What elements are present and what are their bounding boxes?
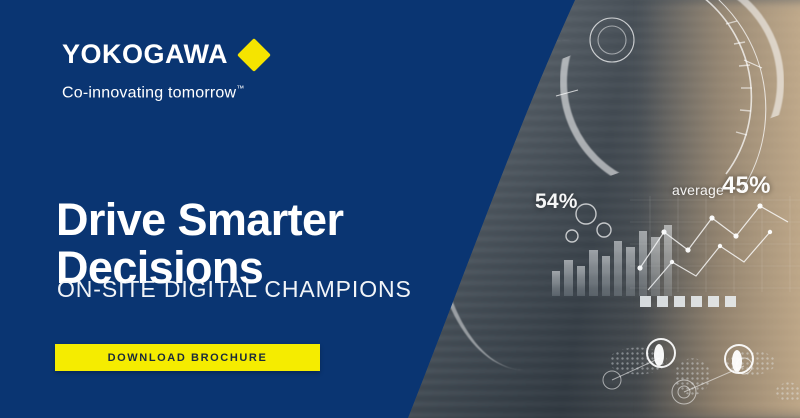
diamond-icon (237, 38, 271, 72)
yokogawa-hero-banner: 54% average 45% YOKOGAWA Co-innovating t… (0, 0, 800, 418)
brand-tagline: Co-innovating tomorrow™ (62, 84, 244, 102)
trademark-symbol: ™ (236, 84, 244, 93)
download-brochure-button[interactable]: DOWNLOAD BROCHURE (55, 344, 320, 371)
hero-content: YOKOGAWA Co-innovating tomorrow™ Drive S… (0, 0, 430, 418)
logo-wordmark: YOKOGAWA (62, 41, 228, 68)
page-subtitle: ON-SITE DIGITAL CHAMPIONS (57, 276, 412, 303)
tagline-text: Co-innovating tomorrow (62, 84, 236, 101)
yokogawa-logo[interactable]: YOKOGAWA (62, 41, 266, 68)
